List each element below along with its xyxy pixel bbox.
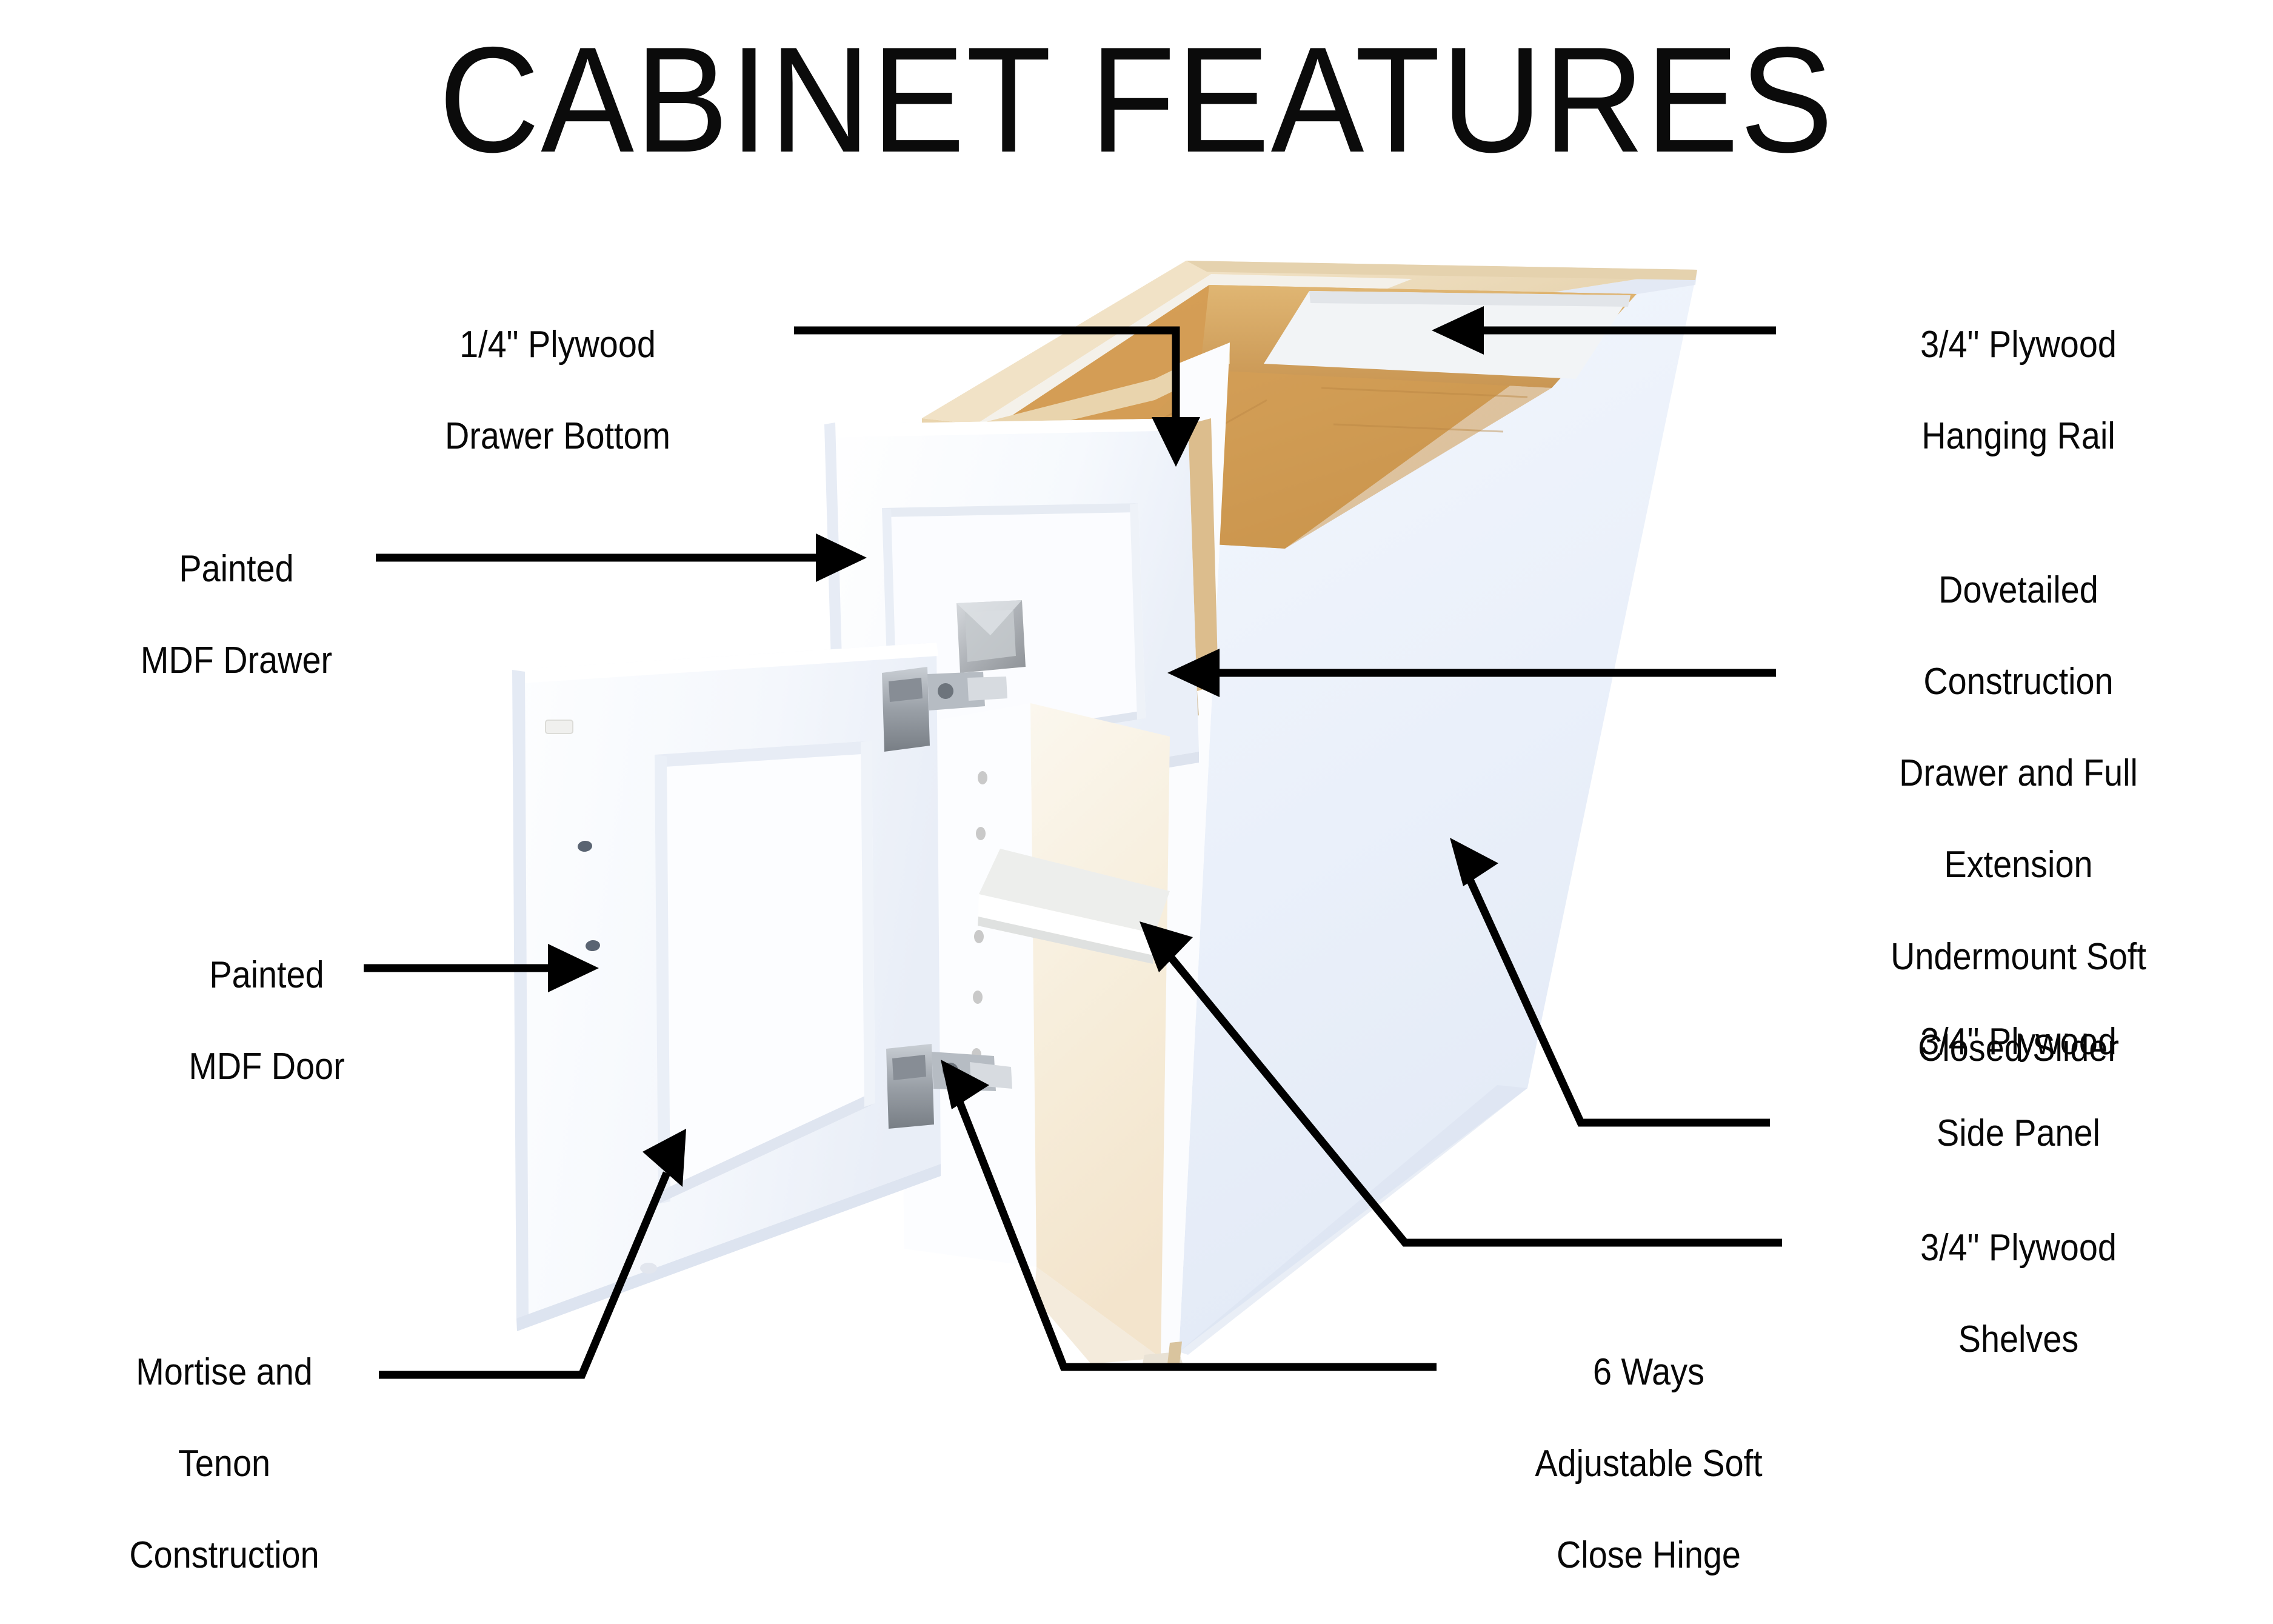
label-soft-close-hinge: 6 Ways Adjustable Soft Close Hinge <box>1441 1303 1856 1624</box>
label-painted-drawer: Painted MDF Drawer <box>45 500 427 729</box>
label-line: Side Panel <box>1806 1111 2231 1157</box>
label-line: Dovetailed <box>1806 567 2231 613</box>
arrowhead-painted-door <box>548 944 599 992</box>
door-sticker <box>546 720 573 733</box>
label-line: Painted <box>45 546 427 592</box>
label-mortise-tenon: Mortise and Tenon Construction <box>33 1303 415 1624</box>
arrowhead-side-panel <box>1450 838 1498 886</box>
label-line: Tenon <box>33 1441 415 1487</box>
label-line: MDF Drawer <box>45 638 427 684</box>
label-line: Shelves <box>1806 1317 2231 1363</box>
cabinet-top-plywood-frame <box>922 261 1697 549</box>
arrowhead-drawer-bottom <box>1152 417 1200 467</box>
label-line: 1/4" Plywood <box>350 322 765 368</box>
label-line: 3/4" Plywood <box>1806 1225 2231 1271</box>
label-line: Painted <box>76 952 458 998</box>
leader-shelves <box>1164 949 1782 1243</box>
label-line: Extension <box>1806 842 2231 888</box>
shelf-pin-holes <box>972 771 987 1061</box>
label-line: Construction <box>33 1532 415 1579</box>
leader-hinge <box>958 1097 1437 1367</box>
label-line: MDF Door <box>76 1044 458 1090</box>
label-line: Construction <box>1806 659 2231 705</box>
page-title: CABINET FEATURES <box>79 24 2194 175</box>
label-shelves: 3/4" Plywood Shelves <box>1806 1179 2231 1408</box>
label-line: 6 Ways <box>1441 1349 1856 1395</box>
door-panel-inset <box>655 741 875 1204</box>
label-line: Adjustable Soft <box>1441 1441 1856 1487</box>
cabinet-door <box>512 643 941 1331</box>
drawer-front-panel <box>824 418 1199 823</box>
label-hanging-rail: 3/4" Plywood Hanging Rail <box>1806 276 2231 505</box>
leader-mortise <box>379 1173 667 1375</box>
label-painted-door: Painted MDF Door <box>76 906 458 1135</box>
label-drawer-bottom: 1/4" Plywood Drawer Bottom <box>350 276 765 505</box>
label-line: Mortise and <box>33 1349 415 1395</box>
door-bumper <box>640 1263 657 1274</box>
drawer-knob <box>956 600 1026 673</box>
leader-side-panel <box>1467 873 1770 1123</box>
drawer-box <box>847 418 1218 744</box>
label-line: Close Hinge <box>1441 1532 1856 1579</box>
lower-hinge <box>886 1044 1012 1129</box>
arrowhead-hinge <box>941 1060 989 1109</box>
label-line: Drawer and Full <box>1806 750 2231 797</box>
infographic-canvas: CABINET FEATURES <box>0 0 2273 1515</box>
label-line: Hanging Rail <box>1806 413 2231 459</box>
cabinet-bottom-tip <box>1142 1342 1183 1366</box>
cabinet-front-stile <box>1144 343 1230 1367</box>
leader-drawer-bottom <box>794 330 1176 424</box>
label-line: 3/4" Plywood <box>1806 322 2231 368</box>
label-line: Drawer Bottom <box>350 413 765 459</box>
interior-shelf <box>978 849 1170 964</box>
upper-hinge <box>882 667 1007 752</box>
label-line: 3/4" Plywood <box>1806 1019 2231 1065</box>
cabinet-interior <box>896 703 1170 1364</box>
arrowhead-hanging-rail <box>1432 306 1484 355</box>
arrowhead-mortise <box>643 1129 686 1187</box>
arrowhead-painted-drawer <box>816 533 867 582</box>
cabinet-side-panel <box>1179 270 1697 1355</box>
label-side-panel: 3/4" Plywood Side Panel <box>1806 973 2231 1202</box>
arrowhead-dovetail <box>1167 649 1220 697</box>
arrowhead-shelves <box>1140 921 1193 972</box>
door-hinge-cup-marks <box>577 840 601 952</box>
